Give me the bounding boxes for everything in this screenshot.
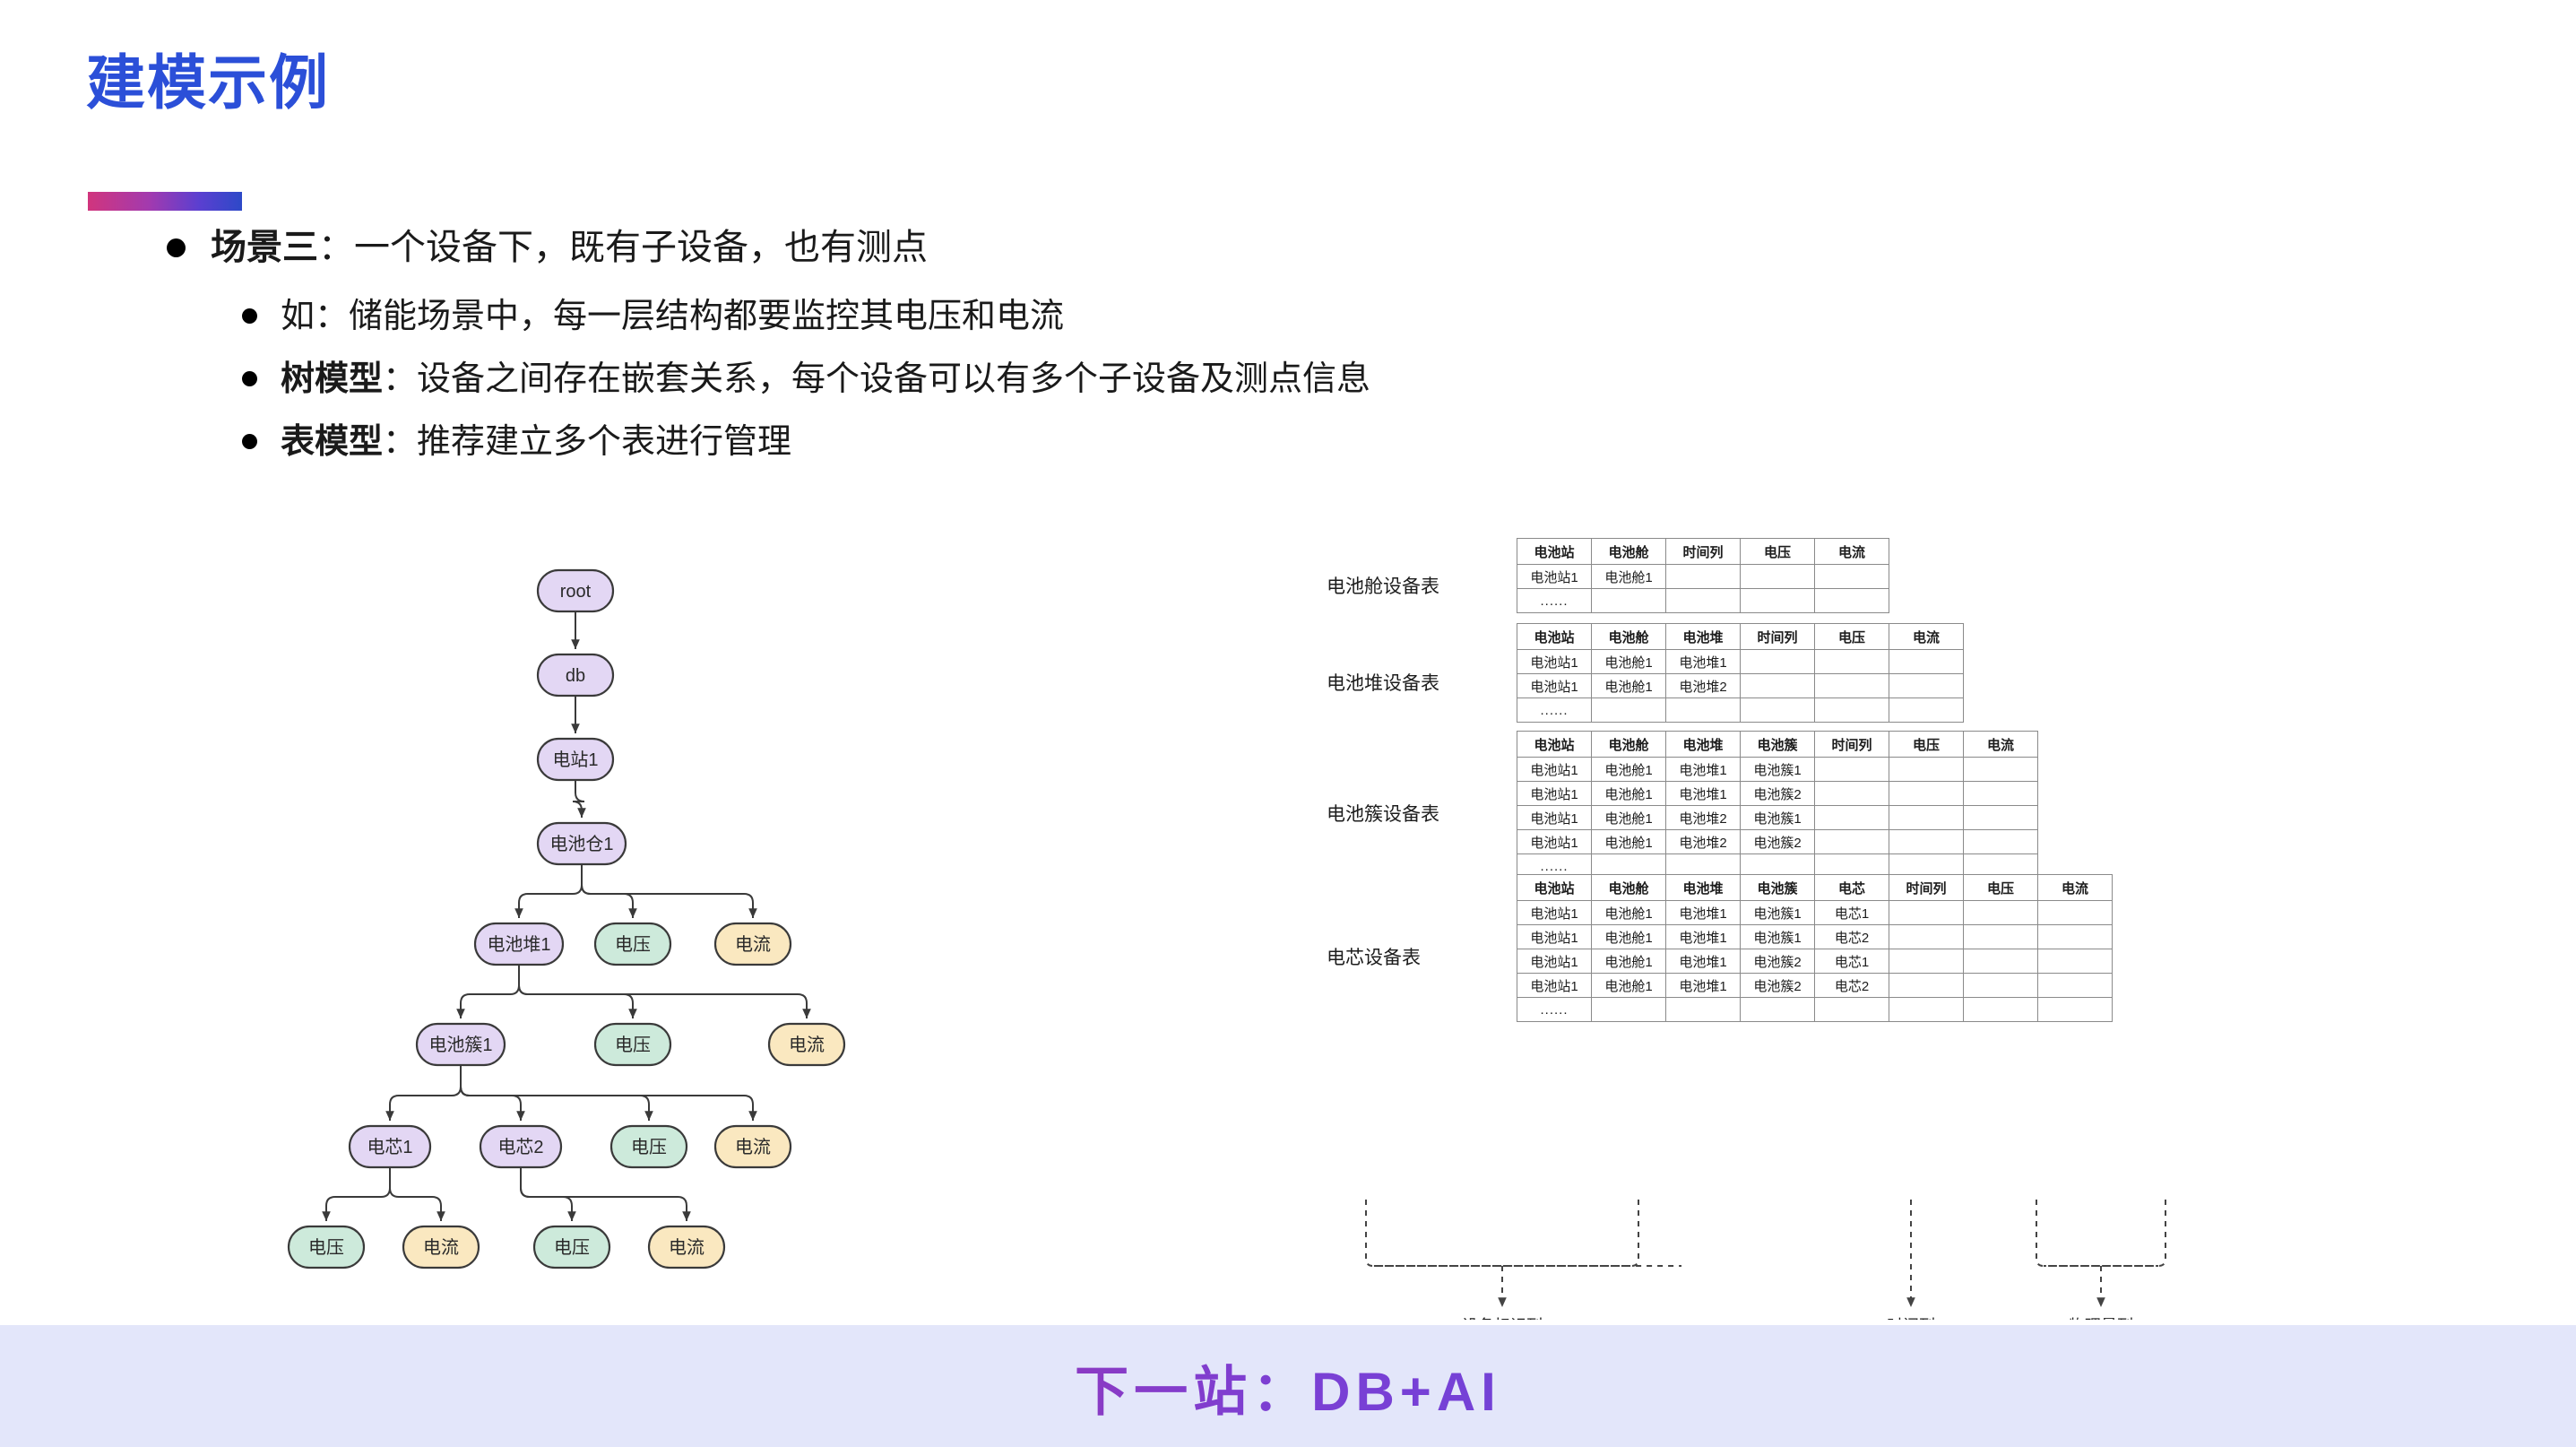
tree-edge: [519, 864, 582, 918]
table-header-cell: 时间列: [1889, 875, 1964, 901]
table-cell: [1815, 674, 1889, 698]
tree-node-c_stk[interactable]: 电流: [769, 1024, 844, 1065]
table-cell: 电池舱1: [1592, 758, 1666, 782]
table-cell: [1889, 901, 1964, 925]
tree-node-label: 电池簇1: [428, 1035, 492, 1055]
tree-edge: [461, 1065, 649, 1121]
table-cell: ......: [1517, 998, 1592, 1022]
bullet-dot-icon: [242, 371, 257, 386]
table-cell: 电池站1: [1517, 949, 1592, 974]
tree-node-c_c1[interactable]: 电流: [403, 1226, 479, 1268]
table-cell: 电池簇2: [1741, 830, 1815, 854]
bullet-level2-0-rest: 如：储能场景中，每一层结构都要监控其电压和电流: [281, 298, 1064, 335]
table-cell: 电池簇1: [1741, 925, 1815, 949]
table-header-cell: 电流: [1964, 732, 2038, 758]
bullet-level2-1: 树模型：设备之间存在嵌套关系，每个设备可以有多个子设备及测点信息: [242, 356, 1959, 404]
tree-edge: [582, 864, 633, 918]
table-cell: 电池舱1: [1592, 830, 1666, 854]
table-header-row: 电池站电池舱电池堆电池簇时间列电压电流: [1517, 732, 2038, 758]
table-header-cell: 电池站: [1517, 539, 1592, 565]
table-cell: 电池堆2: [1666, 830, 1741, 854]
tree-node-label: 电压: [554, 1237, 590, 1258]
tree-node-label: 电压: [615, 934, 651, 955]
bullet-level2-1-strong: 树模型: [281, 360, 383, 398]
table-cell: [1964, 949, 2038, 974]
tree-edge: [326, 1167, 390, 1221]
table-cell: [1592, 698, 1666, 723]
tree-node-clus1[interactable]: 电池簇1: [417, 1024, 505, 1065]
table-cell: 电池站1: [1517, 782, 1592, 806]
table-cell: 电池堆1: [1666, 974, 1741, 998]
table-cell: 电池站1: [1517, 650, 1592, 674]
table-cell: 电池簇1: [1741, 901, 1815, 925]
table-cell: [2038, 901, 2113, 925]
table-cell: [1666, 998, 1741, 1022]
table-row: 电池站1电池舱1电池堆2: [1517, 674, 1964, 698]
device-tree-svg: rootdb电站1电池仓1电池堆1电压电流电池簇1电压电流电芯1电芯2电压电流电…: [269, 534, 1058, 1323]
table-cell: 电池簇1: [1741, 806, 1815, 830]
table-cell: 电池站1: [1517, 830, 1592, 854]
bullet-dot-icon: [167, 238, 186, 257]
table-cell: [1666, 565, 1741, 589]
tree-node-v_c1[interactable]: 电压: [289, 1226, 364, 1268]
table-header-cell: 时间列: [1666, 539, 1741, 565]
bracket-measure-left: [2036, 1200, 2158, 1266]
table-row: 电池站1电池舱1电池堆1电池簇1电芯2: [1517, 925, 2113, 949]
table-header-cell: 时间列: [1741, 624, 1815, 650]
table-cell: 电池站1: [1517, 925, 1592, 949]
bullet-list: 场景三：一个设备下，既有子设备，也有测点 如：储能场景中，每一层结构都要监控其电…: [167, 222, 1959, 481]
table-row: 电池站1电池舱1电池堆2电池簇2: [1517, 830, 2038, 854]
table-cell: [1666, 589, 1741, 613]
tree-node-cell1[interactable]: 电芯1: [350, 1126, 430, 1167]
table-cell: 电池堆1: [1666, 925, 1741, 949]
tree-edge: [461, 1065, 521, 1121]
table-cell: 电池簇2: [1741, 949, 1815, 974]
table-cell: 电池舱1: [1592, 925, 1666, 949]
table-row: 电池站1电池舱1电池堆1电池簇1: [1517, 758, 2038, 782]
data-table: 电池站电池舱时间列电压电流电池站1电池舱1......: [1517, 538, 1889, 613]
table-cell: [1889, 698, 1964, 723]
table-row: 电池站1电池舱1电池堆1电池簇1电芯1: [1517, 901, 2113, 925]
table-cell: [1964, 758, 2038, 782]
table-caption: 电芯设备表: [1327, 943, 1421, 970]
table-cell: 电池舱1: [1592, 974, 1666, 998]
table-header-cell: 电池舱: [1592, 539, 1666, 565]
bullet-level1-rest: ：一个设备下，既有子设备，也有测点: [318, 228, 928, 267]
table-cell: 电池堆1: [1666, 782, 1741, 806]
table-cell: [1889, 830, 1964, 854]
table-header-cell: 电池堆: [1666, 624, 1741, 650]
table-row: 电池站1电池舱1: [1517, 565, 1889, 589]
table-cell: 电池站1: [1517, 565, 1592, 589]
tree-edge: [521, 1167, 687, 1221]
tree-node-cell2[interactable]: 电芯2: [480, 1126, 561, 1167]
bullet-level2-0: 如：储能场景中，每一层结构都要监控其电压和电流: [242, 293, 1959, 342]
table-row: 电池站1电池舱1电池堆2电池簇1: [1517, 806, 2038, 830]
table-header-cell: 电流: [1889, 624, 1964, 650]
table-cell: [1889, 998, 1964, 1022]
table-cell: [1815, 998, 1889, 1022]
table-cell: [1889, 949, 1964, 974]
table-header-cell: 电压: [1741, 539, 1815, 565]
table-header-row: 电池站电池舱电池堆电池簇电芯时间列电压电流: [1517, 875, 2113, 901]
tree-edge: [519, 965, 633, 1018]
table-cell: [1889, 650, 1964, 674]
table-header-cell: 电流: [1815, 539, 1889, 565]
table-cell: 电池舱1: [1592, 650, 1666, 674]
tree-node-v_c2[interactable]: 电压: [534, 1226, 609, 1268]
table-cell: [1815, 589, 1889, 613]
tree-edge: [390, 1065, 461, 1121]
tree-node-label: 电流: [669, 1237, 705, 1258]
tree-node-label: root: [560, 582, 592, 602]
tree-node-label: 电压: [615, 1035, 651, 1055]
table-header-cell: 电池簇: [1741, 875, 1815, 901]
bullet-level1: 场景三：一个设备下，既有子设备，也有测点: [167, 222, 1959, 273]
bullet-level2-1-text: 树模型：设备之间存在嵌套关系，每个设备可以有多个子设备及测点信息: [281, 356, 1370, 404]
table-header-cell: 电池站: [1517, 624, 1592, 650]
bracket-device-right: [1373, 1200, 1638, 1266]
table-cell: 电芯2: [1815, 925, 1889, 949]
table-caption: 电池舱设备表: [1327, 572, 1439, 599]
tree-edge: [521, 1167, 572, 1221]
table-cell: [1666, 698, 1741, 723]
bullet-level2-2-rest: ：推荐建立多个表进行管理: [383, 423, 791, 461]
table-cell: 电池站1: [1517, 806, 1592, 830]
tree-edge: [573, 780, 584, 818]
device-tree-diagram: rootdb电站1电池仓1电池堆1电压电流电池簇1电压电流电芯1电芯2电压电流电…: [269, 534, 1058, 1323]
table-row: ......: [1517, 589, 1889, 613]
table-cell: 电池堆1: [1666, 650, 1741, 674]
table-header-row: 电池站电池舱时间列电压电流: [1517, 539, 1889, 565]
tree-node-stack1[interactable]: 电池堆1: [475, 923, 563, 965]
table-cell: [1889, 925, 1964, 949]
table-cell: 电池堆1: [1666, 949, 1741, 974]
table-header-cell: 电池堆: [1666, 732, 1741, 758]
tree-node-c_c2[interactable]: 电流: [649, 1226, 724, 1268]
table-cell: [1741, 698, 1815, 723]
table-cell: [1741, 998, 1815, 1022]
tree-node-label: 电芯1: [367, 1137, 412, 1157]
tree-edge: [390, 1167, 441, 1221]
table-cell: 电池舱1: [1592, 806, 1666, 830]
table-cell: [1815, 758, 1889, 782]
table-cell: [1815, 565, 1889, 589]
data-table: 电池站电池舱电池堆电池簇电芯时间列电压电流电池站1电池舱1电池堆1电池簇1电芯1…: [1517, 874, 2113, 1022]
table-cell: [1741, 674, 1815, 698]
table-cell: 电池堆2: [1666, 674, 1741, 698]
table-cell: 电池簇1: [1741, 758, 1815, 782]
tree-node-v_stk[interactable]: 电压: [595, 1024, 670, 1065]
tree-edge: [461, 1065, 753, 1121]
table-cell: 电芯2: [1815, 974, 1889, 998]
table-cell: 电池堆1: [1666, 901, 1741, 925]
table-header-cell: 电流: [2038, 875, 2113, 901]
table-row: ......: [1517, 998, 2113, 1022]
table-header-cell: 电压: [1964, 875, 2038, 901]
tree-node-label: 电池仓1: [549, 834, 613, 854]
table-cell: [1815, 806, 1889, 830]
table-row: 电池站1电池舱1电池堆1电池簇2电芯1: [1517, 949, 2113, 974]
table-cell: [1964, 901, 2038, 925]
table-header-cell: 电池舱: [1592, 732, 1666, 758]
table-cell: [1741, 565, 1815, 589]
tree-node-label: 电芯2: [497, 1137, 543, 1157]
table-cell: [1964, 998, 2038, 1022]
table-cell: [2038, 974, 2113, 998]
table-cell: [2038, 949, 2113, 974]
table-cell: 电池堆1: [1666, 758, 1741, 782]
tree-node-c_clu[interactable]: 电流: [715, 1126, 791, 1167]
bullet-level1-strong: 场景三: [211, 228, 318, 267]
table-cell: 电池站1: [1517, 901, 1592, 925]
table-header-row: 电池站电池舱电池堆时间列电压电流: [1517, 624, 1964, 650]
table-cell: 电池站1: [1517, 758, 1592, 782]
tree-node-label: 电压: [631, 1137, 667, 1157]
table-cell: 电池舱1: [1592, 674, 1666, 698]
bullet-level2-2-text: 表模型：推荐建立多个表进行管理: [281, 419, 791, 467]
tree-node-bin1[interactable]: 电池仓1: [538, 823, 626, 864]
bracket-measure-right: [2044, 1200, 2165, 1266]
table-header-cell: 电池站: [1517, 875, 1592, 901]
bullet-level2-2: 表模型：推荐建立多个表进行管理: [242, 419, 1959, 467]
tree-edge: [461, 965, 519, 1018]
table-cell: [1964, 974, 2038, 998]
table-cell: 电芯1: [1815, 949, 1889, 974]
data-table: 电池站电池舱电池堆电池簇时间列电压电流电池站1电池舱1电池堆1电池簇1电池站1电…: [1517, 731, 2038, 879]
table-cell: [1592, 589, 1666, 613]
table-cell: [1592, 998, 1666, 1022]
table-header-cell: 时间列: [1815, 732, 1889, 758]
table-cell: [1815, 782, 1889, 806]
table-cell: [1889, 974, 1964, 998]
tree-node-label: 电流: [735, 1137, 771, 1157]
bullet-dot-icon: [242, 434, 257, 449]
table-header-cell: 电池堆: [1666, 875, 1741, 901]
table-row: 电池站1电池舱1电池堆1电池簇2: [1517, 782, 2038, 806]
title-gradient-rule: [88, 192, 242, 211]
table-caption: 电池堆设备表: [1327, 669, 1439, 696]
tree-node-label: 电流: [423, 1237, 459, 1258]
table-row: 电池站1电池舱1电池堆1电池簇2电芯2: [1517, 974, 2113, 998]
table-header-cell: 电池舱: [1592, 624, 1666, 650]
bullet-level2-1-rest: ：设备之间存在嵌套关系，每个设备可以有多个子设备及测点信息: [383, 360, 1370, 398]
tree-node-root[interactable]: root: [538, 570, 613, 611]
table-header-cell: 电池簇: [1741, 732, 1815, 758]
table-header-cell: 电压: [1889, 732, 1964, 758]
table-cell: ......: [1517, 589, 1592, 613]
tree-node-c_bin[interactable]: 电流: [715, 923, 791, 965]
tree-nodes: rootdb电站1电池仓1电池堆1电压电流电池簇1电压电流电芯1电芯2电压电流电…: [289, 570, 844, 1268]
table-cell: [1889, 806, 1964, 830]
footer-slogan: 下一站：DB+AI: [0, 1348, 2576, 1426]
bullet-level2-2-strong: 表模型: [281, 423, 383, 461]
table-cell: [1815, 698, 1889, 723]
tree-edge: [519, 965, 807, 1018]
tree-edge: [582, 864, 753, 918]
table-header-cell: 电池舱: [1592, 875, 1666, 901]
table-cell: [1964, 830, 2038, 854]
table-header-cell: 电芯: [1815, 875, 1889, 901]
table-cell: 电池舱1: [1592, 782, 1666, 806]
table-cell: [1889, 758, 1964, 782]
table-header-cell: 电池站: [1517, 732, 1592, 758]
tree-node-db[interactable]: db: [538, 654, 613, 696]
table-cell: [1741, 589, 1815, 613]
table-cell: 电池舱1: [1592, 949, 1666, 974]
table-cell: 电芯1: [1815, 901, 1889, 925]
table-cell: [2038, 998, 2113, 1022]
table-cell: 电池站1: [1517, 974, 1592, 998]
bullet-level1-text: 场景三：一个设备下，既有子设备，也有测点: [211, 222, 928, 273]
table-cell: 电池舱1: [1592, 565, 1666, 589]
table-cell: [1964, 782, 2038, 806]
tree-node-label: 电流: [735, 934, 771, 955]
tree-node-label: 电站1: [552, 749, 598, 770]
table-cell: [1964, 806, 2038, 830]
table-caption: 电池簇设备表: [1327, 800, 1439, 827]
table-cell: [1815, 650, 1889, 674]
page-title: 建模示例: [86, 50, 330, 116]
table-row: ......: [1517, 698, 1964, 723]
table-cell: 电池堆2: [1666, 806, 1741, 830]
tree-node-label: 电压: [308, 1237, 344, 1258]
bullet-dot-icon: [242, 308, 257, 324]
table-cell: [2038, 925, 2113, 949]
table-cell: [1964, 925, 2038, 949]
bullet-level2-0-text: 如：储能场景中，每一层结构都要监控其电压和电流: [281, 293, 1064, 342]
data-table: 电池站电池舱电池堆时间列电压电流电池站1电池舱1电池堆1电池站1电池舱1电池堆2…: [1517, 623, 1964, 723]
table-cell: [1741, 650, 1815, 674]
table-cell: 电池簇2: [1741, 974, 1815, 998]
table-header-cell: 电压: [1815, 624, 1889, 650]
tree-node-label: 电流: [789, 1035, 825, 1055]
table-cell: 电池站1: [1517, 674, 1592, 698]
table-cell: [1815, 830, 1889, 854]
tree-node-st1[interactable]: 电站1: [538, 739, 613, 780]
table-cell: [1889, 782, 1964, 806]
table-cell: ......: [1517, 698, 1592, 723]
tree-node-label: db: [566, 666, 585, 686]
table-row: 电池站1电池舱1电池堆1: [1517, 650, 1964, 674]
table-cell: [1889, 674, 1964, 698]
table-cell: 电池簇2: [1741, 782, 1815, 806]
tree-node-v_bin[interactable]: 电压: [595, 923, 670, 965]
table-cell: 电池舱1: [1592, 901, 1666, 925]
bracket-device-left: [1366, 1200, 1681, 1266]
tree-node-v_clu[interactable]: 电压: [611, 1126, 687, 1167]
tree-node-label: 电池堆1: [487, 934, 550, 955]
